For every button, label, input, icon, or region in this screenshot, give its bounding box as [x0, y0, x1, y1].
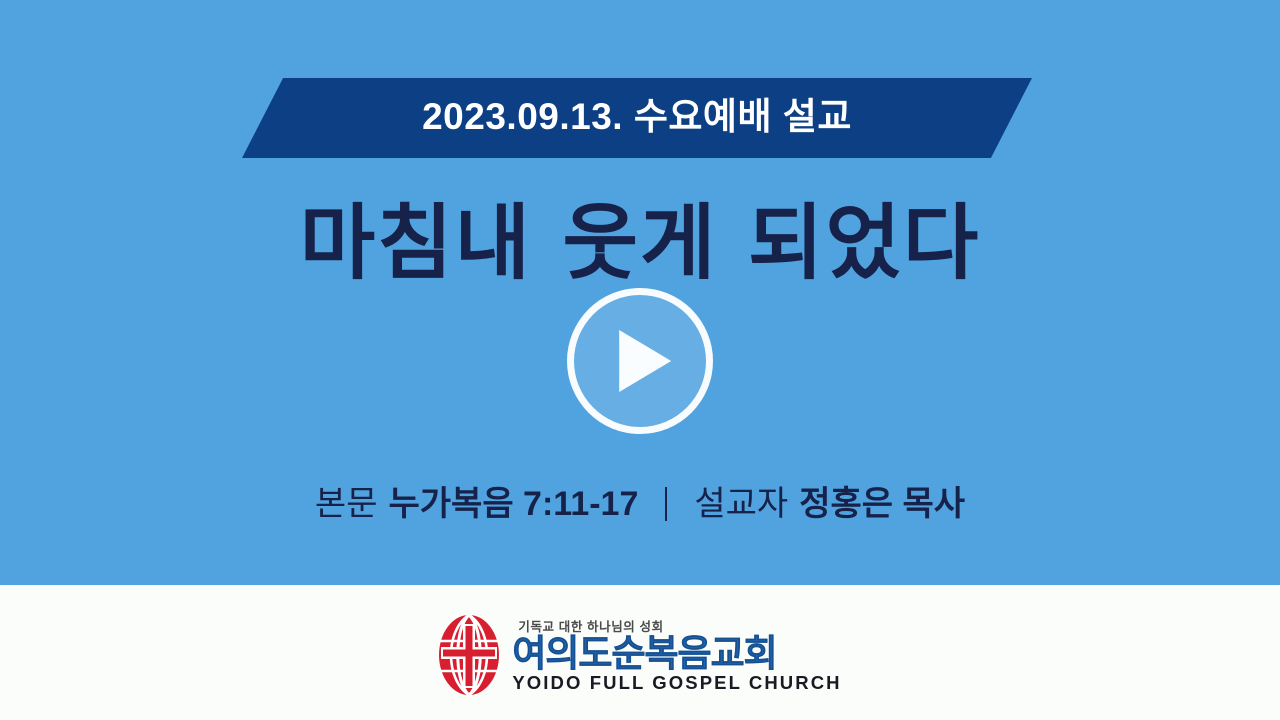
sermon-meta: 본문 누가복음 7:11-17 설교자 정홍은 목사 [0, 487, 1280, 521]
logo-name-english: YOIDO FULL GOSPEL CHURCH [512, 674, 841, 693]
play-button[interactable] [567, 288, 713, 434]
date-banner-text: 2023.09.13. 수요예배 설교 [422, 98, 852, 138]
footer-bar: 기독교 대한 하나님의 성회 여의도순복음교회 YOIDO FULL GOSPE… [0, 585, 1280, 720]
date-banner: 2023.09.13. 수요예배 설교 [242, 78, 1032, 158]
scripture-value: 누가복음 7:11-17 [388, 487, 638, 521]
logo-text-block: 기독교 대한 하나님의 성회 여의도순복음교회 YOIDO FULL GOSPE… [512, 616, 841, 692]
preacher-value: 정홍은 목사 [799, 487, 965, 521]
globe-cross-emblem [438, 614, 500, 696]
sermon-title: 마침내 웃게 되었다 [0, 198, 1280, 288]
logo-name-korean: 여의도순복음교회 [512, 636, 776, 672]
church-logo[interactable]: 기독교 대한 하나님의 성회 여의도순복음교회 YOIDO FULL GOSPE… [438, 614, 841, 696]
play-icon [619, 330, 671, 392]
video-thumbnail[interactable]: 2023.09.13. 수요예배 설교 마침내 웃게 되었다 본문 누가복음 7… [0, 0, 1280, 720]
scripture-label: 본문 [315, 487, 378, 521]
preacher-label: 설교자 [694, 487, 788, 521]
meta-divider [665, 487, 667, 521]
